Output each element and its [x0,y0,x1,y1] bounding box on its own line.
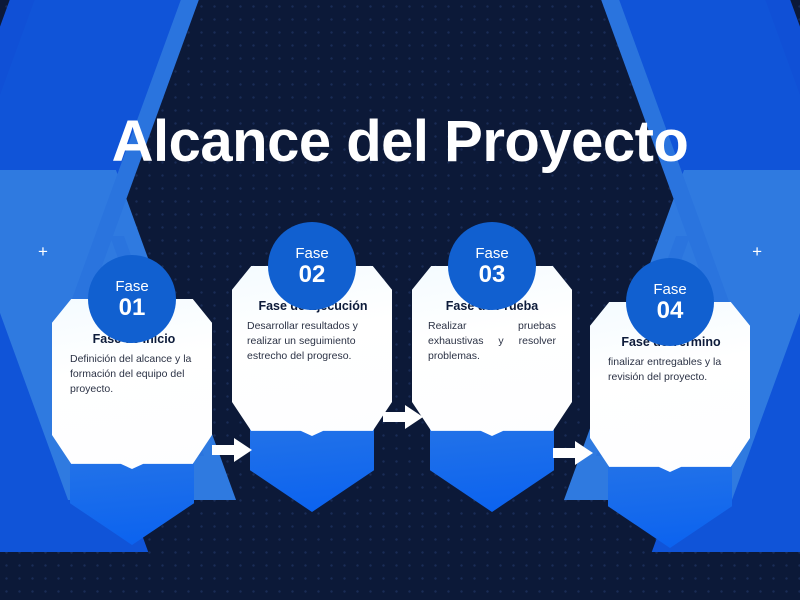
phase-badge-number-01: 01 [119,296,146,320]
phase-body-01: Definición del alcance y la formación de… [70,352,198,397]
phase-badge-word-01: Fase [115,279,148,294]
phase-badge-number-03: 03 [479,263,506,287]
phase-body-03: Realizar pruebas exhaustivas y resolver … [428,319,556,364]
phase-badge-word-03: Fase [475,246,508,261]
slide-canvas: + + Alcance del Proyecto Fase de Inicio … [0,0,800,600]
page-title: Alcance del Proyecto [0,108,800,175]
phase-steps-group: Fase de Inicio Definición del alcance y … [0,0,800,600]
arrow-right-icon-3 [553,440,593,466]
phase-badge-02[interactable]: Fase 02 [268,222,356,310]
phase-badge-word-02: Fase [295,246,328,261]
phase-badge-word-04: Fase [653,282,686,297]
phase-badge-03[interactable]: Fase 03 [448,222,536,310]
phase-badge-04[interactable]: Fase 04 [626,258,714,346]
phase-badge-number-02: 02 [299,263,326,287]
phase-body-02: Desarrollar resultados y realizar un seg… [247,319,379,364]
phase-body-04: finalizar entregables y la revisión del … [608,355,734,385]
arrow-right-icon-1 [212,437,252,463]
phase-badge-01[interactable]: Fase 01 [88,255,176,343]
phase-badge-number-04: 04 [657,299,684,323]
arrow-right-icon-2 [383,404,423,430]
